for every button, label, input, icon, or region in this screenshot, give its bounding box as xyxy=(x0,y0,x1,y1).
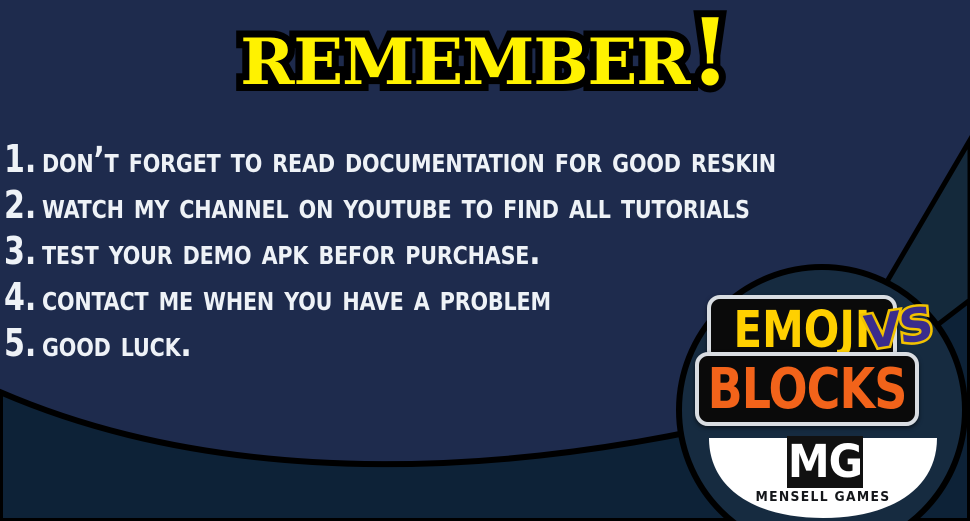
studio-name-label: MENSELL GAMES xyxy=(715,490,932,505)
list-item-label: watch my channel on youtube to find all … xyxy=(42,186,750,228)
list-item-label: contact me when you have a problem xyxy=(42,278,551,320)
studio-monogram-label: MG xyxy=(788,439,862,484)
list-item-number: 5. xyxy=(4,322,36,364)
list-item-label: Test your demo APK befor purchase. xyxy=(42,232,540,274)
list-item-label: Good luck. xyxy=(42,324,192,366)
list-item-number: 2. xyxy=(4,184,36,226)
page-title-text: Remember! xyxy=(240,6,729,98)
game-logo: VS EMOJI BLOCKS MG MENSELL GAMES xyxy=(679,266,965,521)
list-item-number: 1. xyxy=(4,138,36,180)
page-title: Remember! xyxy=(0,6,970,98)
game-logo-inner: VS EMOJI BLOCKS MG MENSELL GAMES xyxy=(679,266,965,521)
list-item: 2. watch my channel on youtube to find a… xyxy=(4,184,966,230)
list-item-number: 4. xyxy=(4,276,36,318)
list-item: 1. Don’t Forget To Read Documentation Fo… xyxy=(4,138,966,184)
versus-label: VS xyxy=(861,288,934,369)
list-item-number: 3. xyxy=(4,230,36,272)
list-item-label: Don’t Forget To Read Documentation For G… xyxy=(42,140,776,182)
studio-banner: MG MENSELL GAMES xyxy=(709,434,937,521)
versus-badge: VS xyxy=(860,286,948,367)
studio-monogram-box: MG xyxy=(787,436,863,488)
slide-canvas: Remember! 1. Don’t Forget To Read Docume… xyxy=(0,0,970,521)
